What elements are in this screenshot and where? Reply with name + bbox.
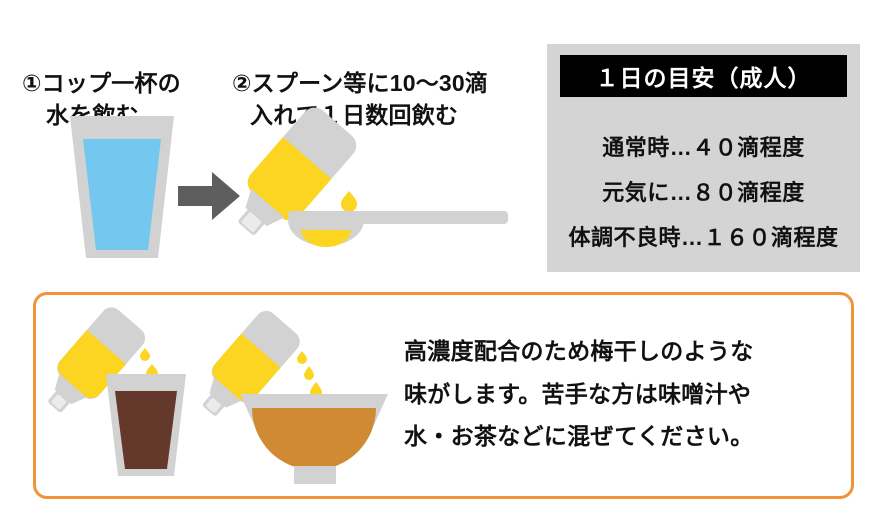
dropper-bottle-spoon-illustration: [240, 112, 512, 260]
dose-line-normal: 通常時…４０滴程度: [547, 130, 860, 162]
guideline-header-text: １日の目安（成人）: [596, 59, 812, 93]
spoon-shape: [288, 211, 508, 247]
step-2-title-line1: ②スプーン等に10〜30滴: [232, 70, 488, 96]
miso-bowl: [240, 394, 388, 484]
dose-line-unwell: 体調不良時…１６０滴程度: [547, 220, 860, 252]
right-arrow-icon: [178, 172, 240, 220]
tea-glass: [106, 374, 186, 476]
note-text: 高濃度配合のため梅干しのような 味がします。苦手な方は味噌汁や 水・お茶などに混…: [404, 330, 844, 458]
step-1-title-line1: ①コップ一杯の: [22, 70, 181, 96]
dose-line-energetic: 元気に…８０滴程度: [547, 175, 860, 207]
guideline-header-bar: １日の目安（成人）: [560, 55, 847, 97]
bottle-into-miso-bowl-illustration: [210, 320, 400, 490]
falling-drops-right: [297, 351, 322, 398]
water-glass-illustration: [62, 112, 182, 262]
water-fill-shape: [83, 139, 161, 250]
falling-drop-step2: [341, 191, 357, 212]
